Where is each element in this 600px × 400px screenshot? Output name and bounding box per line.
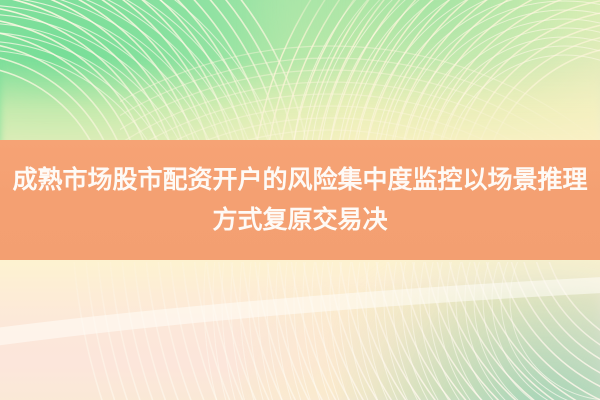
teal-bloom-bottom-right <box>340 250 600 400</box>
title-band: 成熟市场股市配资开户的风险集中度监控以场景推理方式复原交易决 <box>0 140 600 260</box>
banner-image: 成熟市场股市配资开户的风险集中度监控以场景推理方式复原交易决 <box>0 0 600 400</box>
page-title: 成熟市场股市配资开户的风险集中度监控以场景推理方式复原交易决 <box>6 160 594 240</box>
